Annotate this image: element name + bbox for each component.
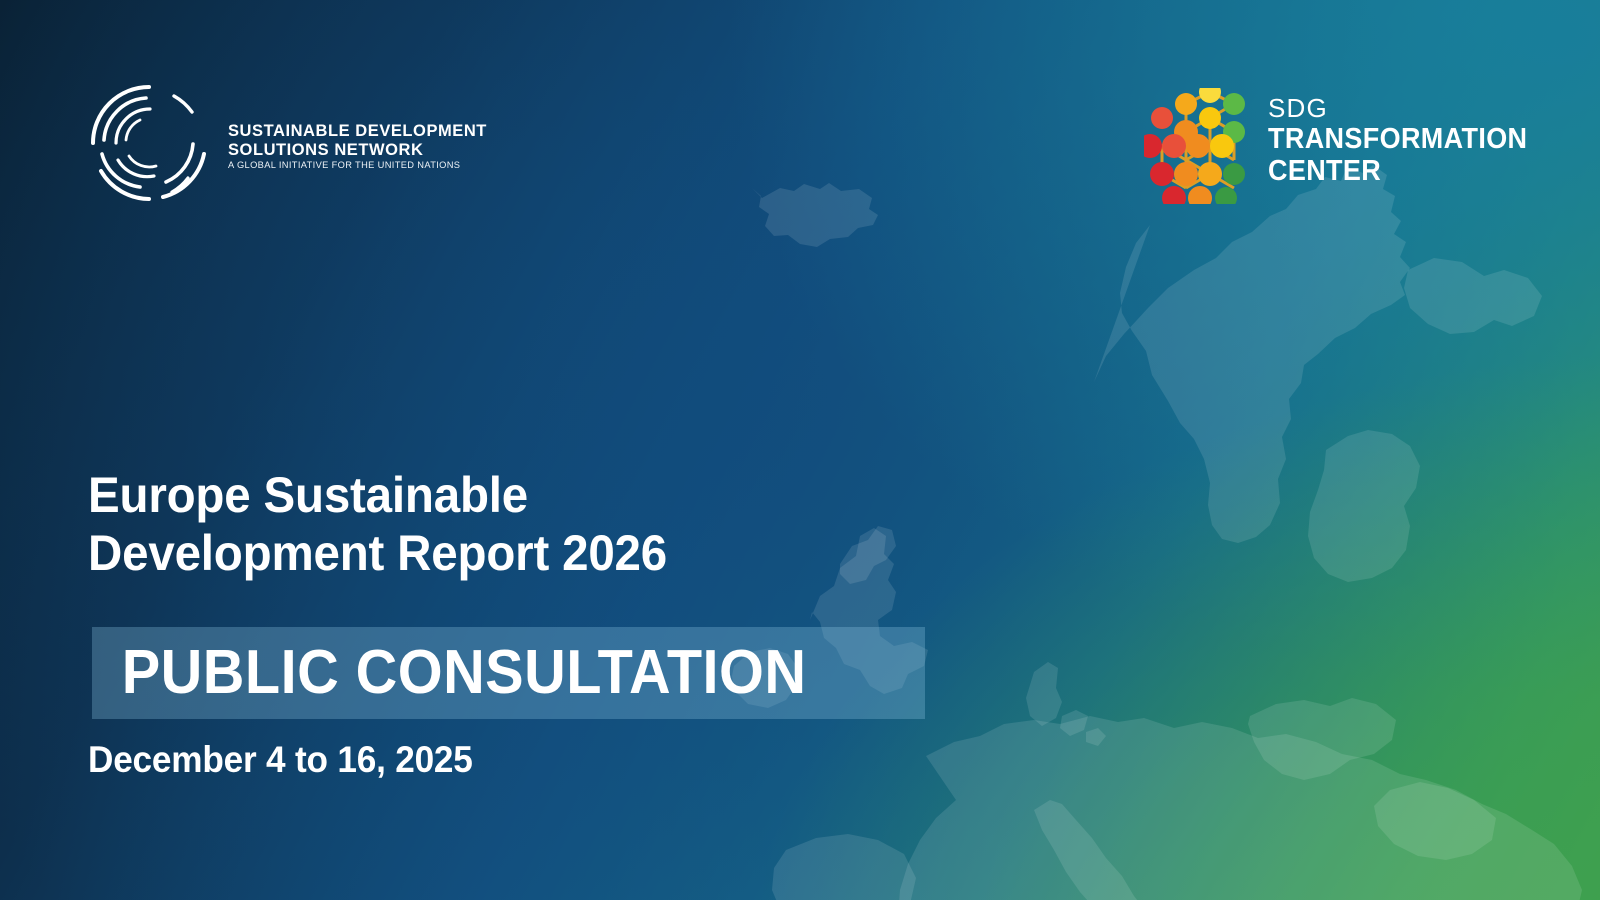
sdg-transformation-center-logo: SDG TRANSFORMATION CENTER (1144, 88, 1504, 204)
public-consultation-banner: PUBLIC CONSULTATION (92, 627, 925, 719)
report-title: Europe Sustainable Development Report 20… (88, 466, 943, 582)
sdsn-logo: SUSTAINABLE DEVELOPMENT SOLUTIONS NETWOR… (88, 82, 418, 207)
sdg-hexagon-dot-network-icon (1144, 88, 1254, 204)
report-promo-banner: SUSTAINABLE DEVELOPMENT SOLUTIONS NETWOR… (0, 0, 1600, 900)
sdsn-tagline: A GLOBAL INITIATIVE FOR THE UNITED NATIO… (228, 161, 498, 170)
sdg-wordmark: SDG TRANSFORMATION CENTER (1268, 95, 1547, 187)
sdsn-concentric-arcs-icon (88, 82, 210, 204)
consultation-date-range: December 4 to 16, 2025 (88, 739, 473, 781)
report-title-line2: Development Report 2026 (88, 524, 943, 582)
sdsn-wordmark: SUSTAINABLE DEVELOPMENT SOLUTIONS NETWOR… (228, 123, 498, 170)
report-title-line1: Europe Sustainable (88, 466, 943, 524)
sdsn-wordmark-line2: SOLUTIONS NETWORK (228, 142, 498, 159)
sdg-wordmark-line1: SDG (1268, 95, 1547, 123)
sdg-wordmark-line2: TRANSFORMATION (1268, 123, 1527, 155)
sdg-wordmark-line3: CENTER (1268, 155, 1527, 187)
page-title: Europe Sustainable Development Report 20… (88, 466, 988, 582)
public-consultation-label: PUBLIC CONSULTATION (92, 642, 806, 704)
sdsn-wordmark-line1: SUSTAINABLE DEVELOPMENT (228, 123, 498, 140)
